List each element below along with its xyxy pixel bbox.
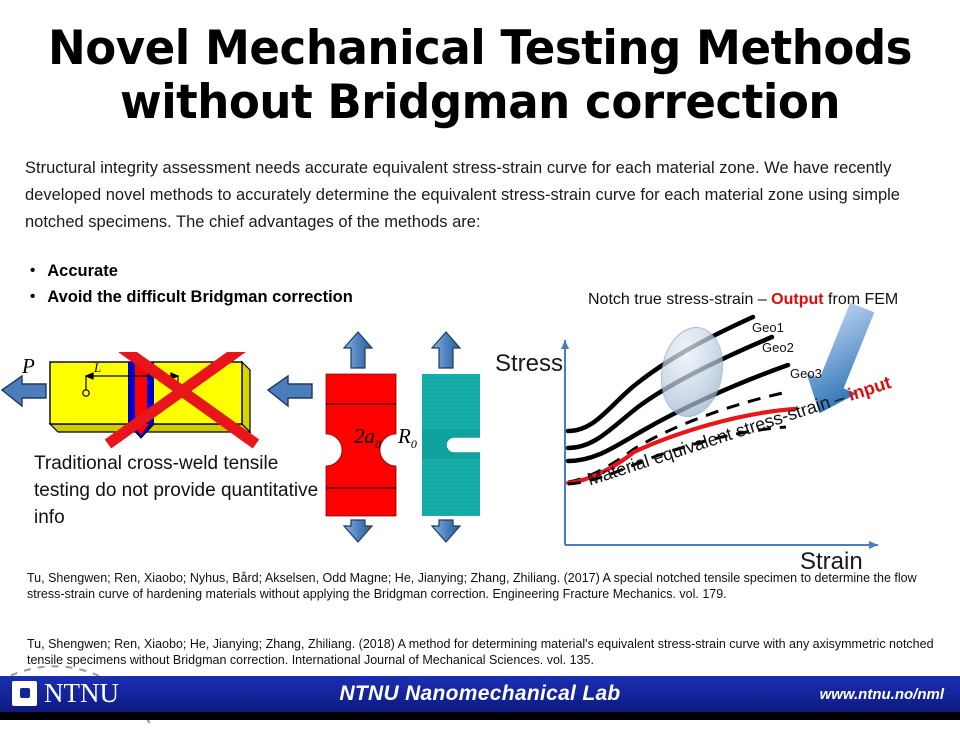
slide-canvas: Novel Mechanical Testing Methods without… [0,0,960,720]
footer-url[interactable]: www.ntnu.no/nml [820,676,944,712]
tension-arrow-down-mesh [432,520,460,542]
gauge-length-label: L [94,360,101,376]
tension-arrow-down-red [344,520,372,542]
footer-title: NTNU Nanomechanical Lab [0,676,960,712]
load-arrow-left [2,376,46,406]
ntnu-square-icon [12,681,37,706]
load-arrow-right [266,376,312,406]
series-label-geo1: Geo1 [752,320,784,335]
load-label-p: P [22,354,35,379]
highlight-lens [655,322,730,421]
bullet-dot-icon: • [30,258,35,284]
notch-radius-label: R0 [398,424,417,452]
ntnu-logo: NTNU [12,679,119,707]
crossweld-caption: Traditional cross-weld tensile testing d… [34,450,324,531]
body-paragraph: Structural integrity assessment needs ac… [25,155,930,236]
series-label-geo3: Geo3 [790,366,822,381]
series-label-geo2: Geo2 [762,340,794,355]
ntnu-wordmark: NTNU [44,679,119,707]
footer-bar: NTNU Nanomechanical Lab NTNU www.ntnu.no… [0,676,960,712]
list-item: • Accurate [30,258,550,284]
bullet-label: Avoid the difficult Bridgman correction [47,284,353,310]
chart-y-axis-label: Stress [495,350,563,378]
bullet-label: Accurate [47,258,118,284]
tension-arrow-up-mesh [432,332,460,368]
crossweld-illustration: P L [0,352,330,452]
footer-underbar [0,712,960,720]
page-title: Novel Mechanical Testing Methods without… [19,22,941,130]
series-geo1 [568,317,753,431]
notch-width-label: 2a0 [354,424,381,452]
bullet-dot-icon: • [30,284,35,310]
tension-arrow-up-red [344,332,372,368]
